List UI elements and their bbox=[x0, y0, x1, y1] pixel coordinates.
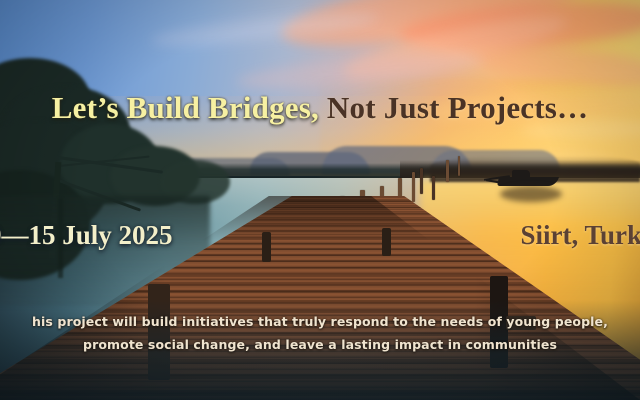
headline-dark: Not Just Projects… bbox=[319, 90, 588, 125]
description-line-1: his project will build initiatives that … bbox=[0, 310, 640, 333]
text-overlay: Let’s Build Bridges, Not Just Projects… … bbox=[0, 0, 640, 400]
event-location: Siirt, Turke bbox=[520, 220, 640, 251]
headline-highlight: Let’s Build Bridges, bbox=[52, 90, 319, 125]
event-poster: Let’s Build Bridges, Not Just Projects… … bbox=[0, 0, 640, 400]
event-date: 9—15 July 2025 bbox=[0, 220, 173, 251]
event-description: his project will build initiatives that … bbox=[0, 310, 640, 356]
poster-headline: Let’s Build Bridges, Not Just Projects… bbox=[0, 92, 640, 123]
description-line-2: promote social change, and leave a lasti… bbox=[0, 333, 640, 356]
